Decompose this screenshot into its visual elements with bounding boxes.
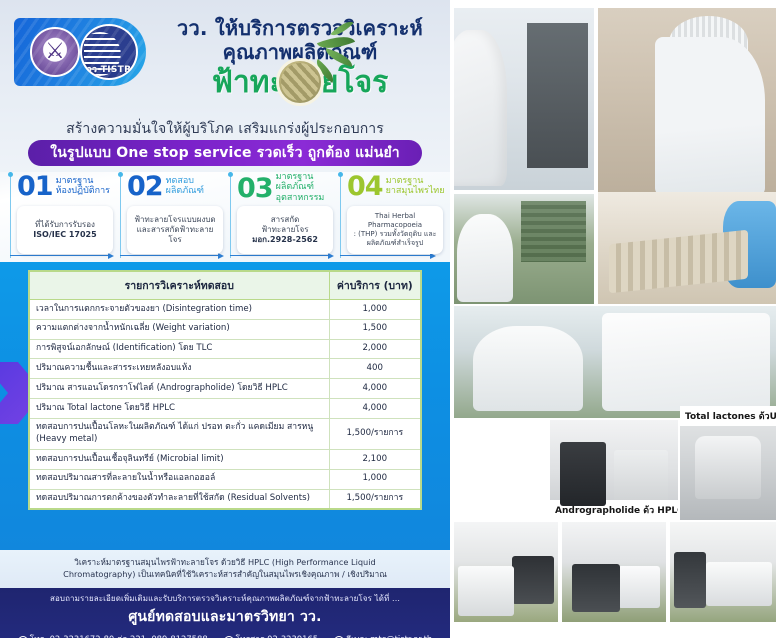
tistr-royal-emblem-icon: ⚔: [30, 27, 80, 77]
step-card-line: ฟ้าทะลายโจร: [261, 225, 308, 235]
services-table: รายการวิเคราะห์ทดสอบ ค่าบริการ (บาท) เวล…: [28, 270, 422, 510]
logo-pill: ⚔ วว TISTR: [14, 18, 146, 86]
title-line-1: วว. ให้บริการตรวจวิเคราะห์: [150, 16, 450, 40]
footer-email[interactable]: ✉อีเมล: mtc@tistr.or.th: [334, 632, 432, 638]
cell-test-name: เวลาในการแตกกระจายตัวของยา (Disintegrati…: [29, 300, 329, 320]
step-label: มาตรฐาน ยาสมุนไพรไทย: [386, 174, 445, 197]
table-row: ทดสอบการปนเปื้อนเชื้อจุลินทรีย์ (Microbi…: [29, 450, 421, 470]
step-number: 02: [127, 174, 163, 200]
step-arrow-line: [230, 255, 330, 256]
services-table-band: รายการวิเคราะห์ทดสอบ ค่าบริการ (บาท) เวล…: [0, 262, 450, 550]
table-row: ปริมาณความชื้นและสารระเหยหลังอบแห้ง 400: [29, 359, 421, 379]
step-tick-line: [10, 172, 11, 258]
cell-test-name: ทดสอบการปนเปื้อนเชื้อจุลินทรีย์ (Microbi…: [29, 450, 329, 470]
table-row: ความแตกต่างจากน้ำหนักเฉลี่ย (Weight vari…: [29, 319, 421, 339]
step-tick-dot: [8, 172, 13, 177]
photo-collage: Andrographolide ด้ว HPLC Total lactones …: [450, 0, 780, 638]
cell-price: 1,500/รายการ: [329, 418, 421, 449]
step-03: 03 มาตรฐาน ผลิตภัณฑ์ อุตสาหกรรม สารสกัด …: [230, 170, 338, 266]
step-number: 04: [347, 174, 383, 200]
footer-fax[interactable]: ※โทรสาร 02-3239165: [224, 632, 318, 638]
hplc-caption: Andrographolide ด้ว HPLC: [550, 500, 678, 520]
cell-test-name: ปริมาณ Total lactone โดยวิธี HPLC: [29, 398, 329, 418]
photo-lab-room-2: [562, 522, 666, 622]
cell-price: 1,000: [329, 469, 421, 489]
step-tick-line: [230, 172, 231, 258]
photo-lab-room-1: [454, 522, 558, 622]
cell-test-name: ทดสอบปริมาณสารที่ละลายในน้ำหรือแอลกอฮอล์: [29, 469, 329, 489]
table-body: เวลาในการแตกกระจายตัวของยา (Disintegrati…: [29, 300, 421, 510]
col-price: ค่าบริการ (บาท): [329, 271, 421, 300]
hplc-note-text: วิเคราะห์มาตรฐานสมุนไพรฟ้าทะลายโจร ด้วยว…: [63, 557, 387, 581]
step-card-line: : (THP) รวมทั้งวัตถุดิบ และ: [354, 230, 437, 239]
cell-test-name: ทดสอบปริมาณการตกค้างของตัวทำละลายที่ใช้ส…: [29, 489, 329, 509]
step-card-line: และสารสกัดฟ้าทะลายโจร: [131, 225, 219, 245]
table-row: เวลาในการแตกกระจายตัวของยา (Disintegrati…: [29, 300, 421, 320]
header-band: ⚔ วว TISTR วว. ให้บริการตรวจวิเคราะห์ คุ…: [0, 0, 450, 172]
step-01: 01 มาตรฐาน ห้องปฏิบัติการ ที่ได้รับการรั…: [10, 170, 118, 266]
cell-price: 1,500: [329, 319, 421, 339]
cell-price: 4,000: [329, 379, 421, 399]
table-row: ปริมาณ สารแอนโดรกราโฟไลด์ (Andrographoli…: [29, 379, 421, 399]
cell-price: 1,000: [329, 300, 421, 320]
step-header: 02 ทดสอบ ผลิตภัณฑ์: [127, 174, 204, 200]
step-header: 01 มาตรฐาน ห้องปฏิบัติการ: [17, 174, 110, 200]
footer-intro-text: สอบถามรายละเอียดเพิ่มเติมและรับบริการตรว…: [0, 588, 450, 605]
photo-hplc-instrument: Andrographolide ด้ว HPLC: [550, 420, 678, 520]
cell-price: 2,100: [329, 450, 421, 470]
step-label-line: ทดสอบ: [166, 176, 204, 186]
contact-footer: สอบถามรายละเอียดเพิ่มเติมและรับบริการตรว…: [0, 588, 450, 638]
hplc-note-band: วิเคราะห์มาตรฐานสมุนไพรฟ้าทะลายโจร ด้วยว…: [0, 550, 450, 588]
tistr-logo-text: วว TISTR: [82, 62, 136, 76]
left-info-panel: ⚔ วว TISTR วว. ให้บริการตรวจวิเคราะห์ คุ…: [0, 0, 450, 638]
step-card: ที่ได้รับการรับรอง ISO/IEC 17025: [17, 206, 113, 254]
photo-scientist-glassware: [454, 8, 594, 190]
poster-root: ⚔ วว TISTR วว. ให้บริการตรวจวิเคราะห์ คุ…: [0, 0, 780, 638]
capsules-image: [276, 58, 324, 106]
step-card-line: ที่ได้รับการรับรอง: [35, 220, 95, 230]
step-label-line: ยาสมุนไพรไทย: [386, 186, 445, 196]
step-tick-dot: [228, 172, 233, 177]
steps-row: 01 มาตรฐาน ห้องปฏิบัติการ ที่ได้รับการรั…: [0, 170, 450, 266]
footer-org-name: ศูนย์ทดสอบและมาตรวิทยา วว.: [0, 605, 450, 628]
step-card-line: ISO/IEC 17025: [33, 230, 96, 240]
step-arrow-line: [120, 255, 220, 256]
table-row: ทดสอบการปนเปื้อนโลหะในผลิตภัณฑ์ ได้แก่ ป…: [29, 418, 421, 449]
photo-scientist-portrait: [598, 8, 776, 212]
table-row: การพิสูจน์เอกลักษณ์ (Identification) โดย…: [29, 339, 421, 359]
table-row: ปริมาณ Total lactone โดยวิธี HPLC 4,000: [29, 398, 421, 418]
step-02: 02 ทดสอบ ผลิตภัณฑ์ ฟ้าทะลายโจรแบบผงบด แล…: [120, 170, 228, 266]
step-tick-line: [120, 172, 121, 258]
step-number: 01: [17, 174, 53, 200]
footer-phone[interactable]: ☎โทร. 02-3231672-80 ต่อ 221, 089-8127588: [18, 632, 208, 638]
step-label-line: มาตรฐาน: [56, 176, 110, 186]
step-label: มาตรฐาน ผลิตภัณฑ์ อุตสาหกรรม: [276, 170, 325, 203]
hplc-note-line-1: วิเคราะห์มาตรฐานสมุนไพรฟ้าทะลายโจร ด้วยว…: [74, 557, 375, 567]
step-card-line: Thai Herbal Pharmacopoeia: [351, 212, 439, 230]
cell-price: 2,000: [329, 339, 421, 359]
one-stop-service-banner: ในรูปแบบ One stop service รวดเร็ว ถูกต้อ…: [28, 140, 422, 166]
step-label-line: มาตรฐาน: [276, 172, 325, 182]
step-tick-dot: [338, 172, 343, 177]
step-card: ฟ้าทะลายโจรแบบผงบด และสารสกัดฟ้าทะลายโจร: [127, 206, 223, 254]
step-label-line: ผลิตภัณฑ์: [166, 186, 204, 196]
step-card-line: ผลิตภัณฑ์สำเร็จรูป: [367, 239, 424, 248]
step-arrow-head-icon: [218, 253, 224, 259]
subtitle: สร้างความมั่นใจให้ผู้บริโภค เสริมแกร่งผู…: [20, 118, 430, 140]
photo-lab-room-3: [670, 522, 776, 622]
cell-test-name: ทดสอบการปนเปื้อนโลหะในผลิตภัณฑ์ ได้แก่ ป…: [29, 418, 329, 449]
cell-test-name: การพิสูจน์เอกลักษณ์ (Identification) โดย…: [29, 339, 329, 359]
table-header-row: รายการวิเคราะห์ทดสอบ ค่าบริการ (บาท): [29, 271, 421, 300]
step-label-line: อุตสาหกรรม: [276, 193, 325, 203]
step-label: ทดสอบ ผลิตภัณฑ์: [166, 174, 204, 197]
step-label: มาตรฐาน ห้องปฏิบัติการ: [56, 174, 110, 197]
footer-phone-text: โทร. 02-3231672-80 ต่อ 221, 089-8127588: [30, 634, 208, 638]
photo-scientist-window-bench: [454, 194, 594, 304]
step-arrow-head-icon: [108, 253, 114, 259]
step-label-line: ห้องปฏิบัติการ: [56, 186, 110, 196]
photo-uv-spectrophotometer: Total lactones ด้วUV S: [680, 406, 776, 520]
cell-price: 400: [329, 359, 421, 379]
cell-test-name: ความแตกต่างจากน้ำหนักเฉลี่ย (Weight vari…: [29, 319, 329, 339]
step-arrow-line: [340, 255, 432, 256]
step-card-line: มอก.2928-2562: [252, 235, 318, 245]
step-tick-line: [340, 172, 341, 258]
step-card-line: สารสกัด: [271, 215, 300, 225]
cell-test-name: ปริมาณ สารแอนโดรกราโฟไลด์ (Andrographoli…: [29, 379, 329, 399]
footer-contacts: ☎โทร. 02-3231672-80 ต่อ 221, 089-8127588…: [0, 628, 450, 638]
cell-test-name: ปริมาณความชื้นและสารระเหยหลังอบแห้ง: [29, 359, 329, 379]
step-tick-dot: [118, 172, 123, 177]
photo-gloved-hands-tray: [598, 192, 776, 304]
step-label-line: มาตรฐาน: [386, 176, 445, 186]
table-head: รายการวิเคราะห์ทดสอบ ค่าบริการ (บาท): [29, 271, 421, 300]
step-arrow-head-icon: [328, 253, 334, 259]
step-label-line: ผลิตภัณฑ์: [276, 182, 325, 192]
photo-analyst-at-instrument: [454, 306, 776, 418]
footer-email-text: อีเมล: mtc@tistr.or.th: [346, 634, 432, 638]
footer-fax-text: โทรสาร 02-3239165: [236, 634, 318, 638]
step-header: 03 มาตรฐาน ผลิตภัณฑ์ อุตสาหกรรม: [237, 170, 324, 203]
step-header: 04 มาตรฐาน ยาสมุนไพรไทย: [347, 174, 445, 200]
step-04: 04 มาตรฐาน ยาสมุนไพรไทย Thai Herbal Phar…: [340, 170, 448, 266]
step-number: 03: [237, 170, 273, 202]
step-card: สารสกัด ฟ้าทะลายโจร มอก.2928-2562: [237, 206, 333, 254]
cell-price: 1,500/รายการ: [329, 489, 421, 509]
step-arrow-line: [10, 255, 110, 256]
table-row: ทดสอบปริมาณสารที่ละลายในน้ำหรือแอลกอฮอล์…: [29, 469, 421, 489]
cell-price: 4,000: [329, 398, 421, 418]
col-test-name: รายการวิเคราะห์ทดสอบ: [29, 271, 329, 300]
tistr-globe-logo-icon: วว TISTR: [80, 24, 138, 80]
table-row: ทดสอบปริมาณการตกค้างของตัวทำละลายที่ใช้ส…: [29, 489, 421, 509]
uv-caption: Total lactones ด้วUV S: [680, 406, 776, 426]
hplc-note-line-2: Chromatography) เป็นเทคนิคที่ใช้วิเคราะห…: [63, 569, 387, 579]
step-card-line: ฟ้าทะลายโจรแบบผงบด: [134, 215, 215, 225]
step-card: Thai Herbal Pharmacopoeia : (THP) รวมทั้…: [347, 206, 443, 254]
